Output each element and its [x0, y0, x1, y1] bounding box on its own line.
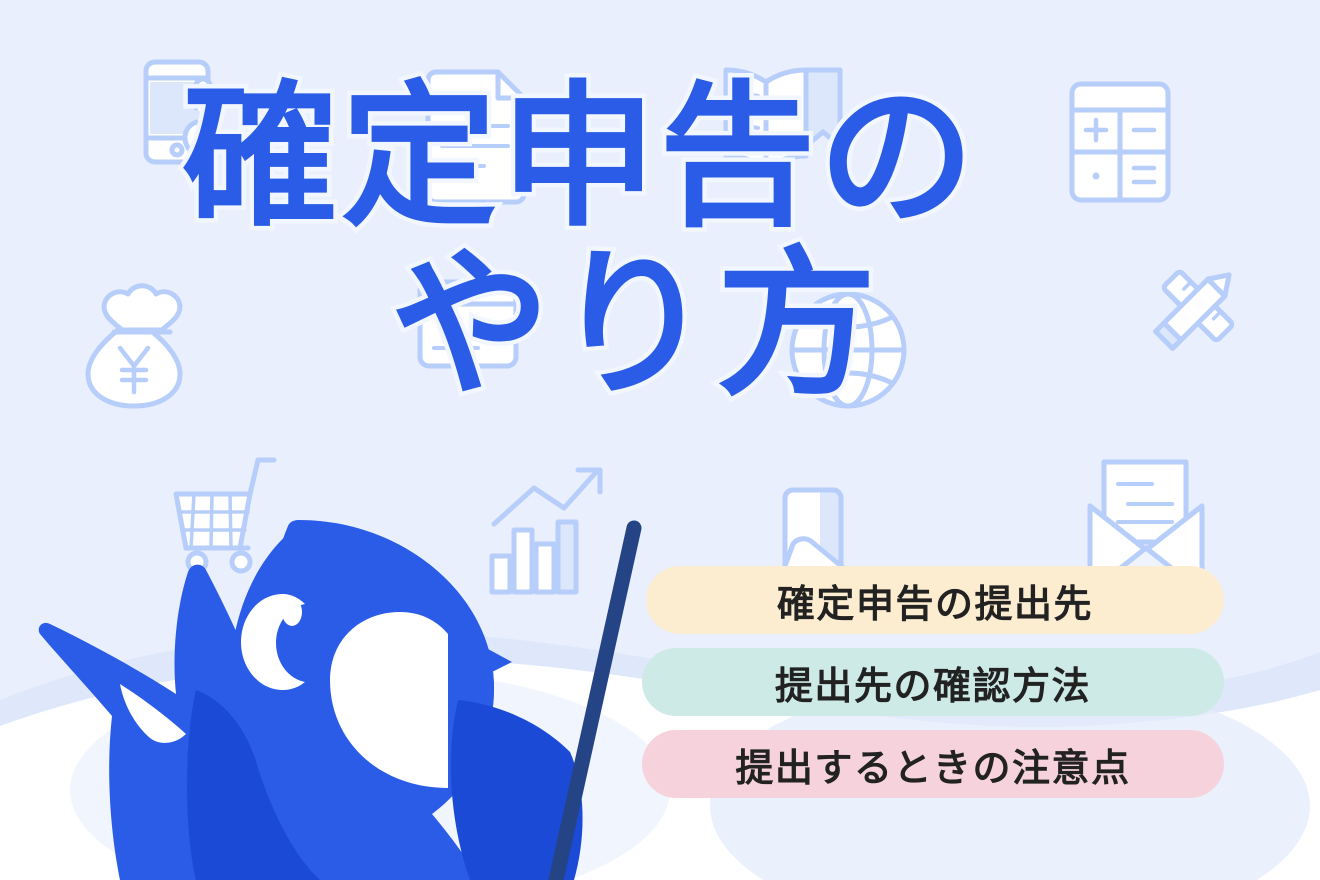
- topic-pill-list: 確定申告の提出先 提出先の確認方法 提出するときの注意点: [642, 566, 1224, 798]
- pill-cautions[interactable]: 提出するときの注意点: [642, 730, 1224, 798]
- bird-eye-glint: [282, 598, 302, 626]
- pill-submission-destination[interactable]: 確定申告の提出先: [646, 566, 1224, 634]
- pill-label: 確定申告の提出先: [777, 573, 1093, 628]
- pill-label: 提出するときの注意点: [735, 737, 1130, 792]
- pill-how-to-check[interactable]: 提出先の確認方法: [642, 648, 1224, 716]
- pointer-stick: [556, 528, 634, 880]
- pill-label: 提出先の確認方法: [775, 655, 1091, 710]
- banner-canvas: 確定申告の やり方 確定申告の提出先 提出先の確認方法 提出: [0, 0, 1320, 880]
